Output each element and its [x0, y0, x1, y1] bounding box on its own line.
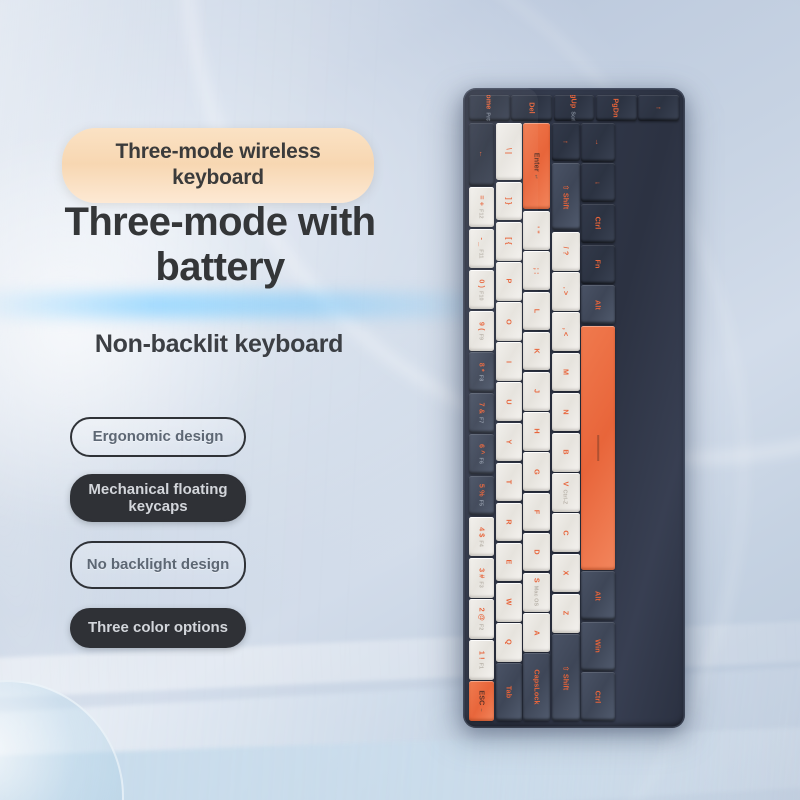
key-9[interactable]: 9 (F9 [469, 311, 494, 351]
key-legend-primary: 3 # [477, 568, 486, 578]
key-legend-primary: W [504, 599, 513, 606]
key-legend-secondary: F10 [477, 291, 483, 301]
key-legend-primary: C [561, 530, 570, 535]
key-legend: HomePrtSc [485, 95, 494, 121]
page-title: Three-mode with battery [20, 200, 420, 290]
key-legend: ESC~ [477, 691, 486, 712]
key-legend-primary: 2 @ [477, 607, 486, 620]
key-legend: R [504, 519, 513, 524]
key-tab[interactable]: Tab [496, 663, 522, 721]
feature-pill-label: No backlight design [87, 556, 230, 573]
key-legend-secondary: F4 [477, 540, 483, 547]
subheading-non-backlit: Non-backlit keyboard [24, 330, 414, 359]
key-legend-primary: ] } [504, 197, 513, 205]
key-legend: ← [477, 151, 486, 158]
key-c[interactable]: C [552, 513, 580, 552]
key-fn[interactable]: Fn [581, 245, 615, 284]
key-legend-primary: ⇧ Shift [561, 665, 570, 690]
key-3[interactable]: 3 #F3 [469, 558, 494, 598]
key-key[interactable]: [ { [496, 222, 522, 261]
key-legend-primary: P [504, 279, 513, 284]
key-legend: ↑ [561, 140, 570, 144]
key-legend-primary: 0 ) [477, 279, 486, 288]
key-legend-secondary: F8 [477, 375, 483, 382]
key-legend: 7 &F7 [477, 403, 486, 424]
key-legend: Z [561, 611, 570, 616]
key-legend-primary: 1 ! [477, 651, 486, 660]
key-legend: \ | [504, 148, 513, 154]
key-legend-primary: CapsLock [532, 670, 541, 705]
key-g[interactable]: G [523, 452, 550, 491]
key-legend: 0 )F10 [477, 279, 486, 300]
key-legend: X [561, 571, 570, 576]
key-legend-primary: - _ [477, 238, 486, 247]
key-legend-primary: → [594, 138, 603, 145]
key-key[interactable]: ↓ [581, 163, 615, 202]
key-8[interactable]: 8 *F8 [469, 352, 494, 392]
badge-line-1: Three-mode wireless [80, 139, 356, 165]
product-ad-canvas: HomePrtScDelPgUpScrLkPgDn↑←= +F12- _F110… [0, 0, 800, 800]
key-legend-primary: 8 * [477, 363, 486, 372]
key-legend-primary: Home [485, 95, 494, 109]
key-legend-secondary: F6 [477, 458, 483, 465]
key-legend: 6 ^F6 [477, 444, 486, 464]
key-q[interactable]: Q [496, 623, 522, 662]
key-6[interactable]: 6 ^F6 [469, 434, 494, 474]
key-legend: O [504, 319, 513, 325]
key-legend-secondary: F12 [477, 209, 483, 219]
key-legend: PgUpScrLk [569, 95, 578, 121]
key-legend: 1 !F1 [477, 651, 486, 669]
key-legend: Fn [594, 260, 603, 269]
key-legend-primary: O [504, 319, 513, 325]
key-legend-primary: , < [561, 327, 570, 336]
key-legend-primary: ← [477, 151, 486, 158]
key-space[interactable] [581, 326, 615, 570]
key-enter[interactable]: Enter↵ [523, 123, 550, 210]
key-legend-primary: Del [527, 102, 536, 114]
key-legend: CapsLock [532, 670, 541, 705]
key-l[interactable]: L [523, 292, 550, 331]
key-legend: ⇧ Shift [561, 184, 570, 209]
key-legend: ↓ [594, 181, 603, 185]
keyboard-keys-container: HomePrtScDelPgUpScrLkPgDn↑←= +F12- _F110… [469, 95, 679, 721]
key-legend-secondary: F9 [477, 333, 483, 340]
key-legend-primary: Fn [594, 260, 603, 269]
badge-three-mode-wireless: Three-mode wireless keyboard [62, 128, 374, 203]
key-key[interactable]: / ? [552, 232, 580, 271]
key-legend: Q [504, 640, 513, 646]
key-f[interactable]: F [523, 493, 550, 532]
key-key[interactable]: ↑ [638, 95, 679, 121]
key-legend-secondary: Ctrl-Z [561, 489, 567, 504]
key-esc[interactable]: ESC~ [469, 681, 494, 721]
key-home[interactable]: HomePrtSc [469, 95, 510, 121]
key-legend-primary: ↓ [594, 181, 603, 185]
key-legend: N [561, 409, 570, 414]
key-p[interactable]: P [496, 262, 522, 301]
key-key[interactable]: = +F12 [469, 187, 494, 227]
key-legend: Del [527, 102, 536, 114]
key-legend-primary: B [561, 450, 570, 455]
key-o[interactable]: O [496, 302, 522, 341]
key-legend: I [504, 361, 513, 363]
key-legend: - _F11 [477, 238, 486, 259]
key-5[interactable]: 5 %F5 [469, 476, 494, 516]
key-legend-primary: = + [477, 196, 486, 207]
key-legend: M [561, 369, 570, 375]
key-v[interactable]: VCtrl-Z [552, 473, 580, 512]
key-legend-primary: Enter [532, 153, 541, 172]
key-u[interactable]: U [496, 382, 522, 421]
feature-pill-three-color-options: Three color options [70, 608, 246, 648]
keyboard-product-image: HomePrtScDelPgUpScrLkPgDn↑←= +F12- _F110… [463, 88, 685, 728]
key-legend-primary: Alt [594, 300, 603, 310]
key-n[interactable]: N [552, 393, 580, 432]
key-legend: Alt [594, 300, 603, 310]
key-legend-primary: H [532, 429, 541, 434]
key-legend-secondary: ↵ [532, 175, 538, 180]
key-legend-primary: S [532, 578, 541, 583]
key-legend-primary: ESC [477, 691, 486, 706]
key-legend-secondary: F1 [477, 663, 483, 670]
key-legend: Ctrl [594, 690, 603, 703]
key-legend-primary: PgUp [569, 95, 578, 108]
key-legend-primary: Tab [504, 686, 513, 699]
key-legend: 4 $F4 [477, 527, 486, 547]
key-legend: Tab [504, 686, 513, 699]
key-legend: U [504, 399, 513, 404]
key-legend: / ? [561, 247, 570, 256]
key-alt[interactable]: Alt [581, 571, 615, 620]
key-key[interactable]: ← [469, 123, 494, 186]
key-legend-primary: F [532, 510, 541, 515]
key-legend: → [594, 138, 603, 145]
key-legend-primary: G [532, 469, 541, 475]
key-legend: W [504, 599, 513, 606]
key-key[interactable]: ' " [523, 211, 550, 250]
key-legend-primary: 5 % [477, 484, 486, 497]
key-legend: 3 #F3 [477, 568, 486, 588]
key-legend-primary: K [532, 348, 541, 353]
key-del[interactable]: Del [511, 95, 552, 121]
key-legend: Ctrl [594, 217, 603, 230]
feature-pill-ergonomic-design: Ergonomic design [70, 417, 246, 457]
key-legend-primary: \ | [504, 148, 513, 154]
key-legend-primary: Win [594, 639, 603, 652]
key-legend: ] } [504, 197, 513, 205]
key-b[interactable]: B [552, 433, 580, 472]
key-legend: H [532, 429, 541, 434]
key-legend-primary: Z [561, 611, 570, 616]
key-k[interactable]: K [523, 332, 550, 371]
key-legend-primary: N [561, 409, 570, 414]
key-legend: Enter↵ [532, 153, 541, 180]
key-i[interactable]: I [496, 342, 522, 381]
key-capslock[interactable]: CapsLock [523, 653, 550, 721]
key-legend: Alt [594, 591, 603, 601]
key-legend: B [561, 450, 570, 455]
badge-line-2: keyboard [80, 165, 356, 191]
key-7[interactable]: 7 &F7 [469, 393, 494, 433]
key-legend-secondary: F2 [477, 624, 483, 631]
key-legend: SMac OS [532, 578, 541, 606]
key-legend-primary: L [532, 309, 541, 314]
feature-pill-no-backlight-design: No backlight design [70, 541, 246, 589]
key-alt[interactable]: Alt [581, 285, 615, 324]
key-legend-primary: R [504, 519, 513, 524]
key-legend: ⇧ Shift [561, 665, 570, 690]
headline-line-1: Three-mode with [20, 200, 420, 245]
key-legend-secondary: PrtSc [485, 112, 491, 121]
key-win[interactable]: Win [581, 622, 615, 671]
key-legend: L [532, 309, 541, 314]
key-key[interactable]: → [581, 123, 615, 162]
key-legend-primary: E [504, 560, 513, 565]
key-legend-primary: PgDn [612, 98, 621, 117]
key-legend-primary: Ctrl [594, 217, 603, 230]
key-legend-secondary: F7 [477, 417, 483, 424]
key-legend-primary: ↑ [654, 106, 663, 110]
key-2[interactable]: 2 @F2 [469, 599, 494, 639]
key-legend-primary: Y [504, 439, 513, 444]
key-legend-secondary: F5 [477, 500, 483, 507]
key-legend-primary: ↑ [561, 140, 570, 144]
key-legend-primary: ' " [532, 227, 541, 234]
key-legend: [ { [504, 238, 513, 246]
key-legend-primary: Alt [594, 591, 603, 601]
key-shift[interactable]: ⇧ Shift [552, 634, 580, 721]
key-4[interactable]: 4 $F4 [469, 517, 494, 557]
key-legend: 9 (F9 [477, 322, 486, 340]
key-legend: 5 %F5 [477, 484, 486, 506]
key-key[interactable]: ↑ [552, 123, 580, 162]
feature-pill-label: Ergonomic design [93, 428, 224, 445]
key-legend-primary: Q [504, 640, 513, 646]
key-shift[interactable]: ⇧ Shift [552, 163, 580, 231]
key-y[interactable]: Y [496, 423, 522, 462]
key-d[interactable]: D [523, 533, 550, 572]
key-legend: = +F12 [477, 196, 486, 219]
key-legend-primary: Ctrl [594, 690, 603, 703]
key-legend: 2 @F2 [477, 607, 486, 630]
key-legend: D [532, 549, 541, 554]
key-legend-primary: M [561, 369, 570, 375]
key-legend: Win [594, 639, 603, 652]
key-0[interactable]: 0 )F10 [469, 270, 494, 310]
key-legend: P [504, 279, 513, 284]
key-legend-primary: J [532, 389, 541, 393]
key-legend-primary: 9 ( [477, 322, 486, 331]
key-ctrl[interactable]: Ctrl [581, 204, 615, 243]
key-legend: PgDn [612, 98, 621, 117]
key-legend-primary: U [504, 399, 513, 404]
feature-pill-mechanical-floating-keycaps: Mechanical floating keycaps [70, 474, 246, 522]
key-legend: ' " [532, 227, 541, 234]
key-legend-primary: [ { [504, 238, 513, 246]
key-legend: ; : [532, 267, 541, 274]
key-key[interactable]: . > [552, 272, 580, 311]
key-legend: G [532, 469, 541, 475]
key-legend-primary: 7 & [477, 403, 486, 415]
key-legend-primary: / ? [561, 247, 570, 256]
key-legend: F [532, 510, 541, 515]
key-legend-primary: ⇧ Shift [561, 184, 570, 209]
key-legend: C [561, 530, 570, 535]
key-legend-primary: I [504, 361, 513, 363]
key-e[interactable]: E [496, 543, 522, 582]
key-legend-primary: D [532, 549, 541, 554]
key-legend-secondary: ScrLk [569, 111, 575, 121]
feature-pill-label: Mechanical floating keycaps [86, 481, 230, 515]
key-key[interactable]: , < [552, 312, 580, 351]
key-legend-primary: 4 $ [477, 527, 486, 537]
key-key[interactable]: \ | [496, 123, 522, 181]
key-legend: A [532, 630, 541, 635]
key-legend: VCtrl-Z [561, 481, 570, 504]
key-legend: 8 *F8 [477, 363, 486, 382]
key-legend-primary: A [532, 630, 541, 635]
key-legend: Y [504, 439, 513, 444]
key-1[interactable]: 1 !F1 [469, 640, 494, 680]
key-legend-secondary: F3 [477, 581, 483, 588]
key-legend: . > [561, 287, 570, 296]
key-key[interactable]: ] } [496, 182, 522, 221]
key-legend-primary: V [561, 481, 570, 486]
headline-line-2: battery [20, 245, 420, 290]
key-legend-primary: X [561, 571, 570, 576]
key-legend: J [532, 389, 541, 393]
key-legend-secondary: F11 [477, 250, 483, 259]
key-r[interactable]: R [496, 503, 522, 542]
key-legend-primary: 6 ^ [477, 444, 486, 455]
key-legend: ↑ [654, 106, 663, 110]
key-w[interactable]: W [496, 583, 522, 622]
key-legend-primary: T [504, 480, 513, 485]
key-t[interactable]: T [496, 463, 522, 502]
key-key[interactable]: ; : [523, 251, 550, 290]
key-legend: , < [561, 327, 570, 336]
key-legend: T [504, 480, 513, 485]
key-legend-secondary: Mac OS [532, 586, 538, 606]
key-legend: E [504, 560, 513, 565]
key-legend-primary: . > [561, 287, 570, 296]
key-ctrl[interactable]: Ctrl [581, 672, 615, 721]
key-legend-secondary: ~ [477, 709, 483, 712]
key-key[interactable]: - _F11 [469, 229, 494, 269]
key-pgup[interactable]: PgUpScrLk [554, 95, 595, 121]
key-j[interactable]: J [523, 372, 550, 411]
feature-pill-label: Three color options [88, 619, 228, 636]
key-x[interactable]: X [552, 554, 580, 593]
key-s[interactable]: SMac OS [523, 573, 550, 612]
key-legend-primary: ; : [532, 267, 541, 274]
key-m[interactable]: M [552, 353, 580, 392]
spacebar-marker [598, 435, 600, 461]
key-a[interactable]: A [523, 613, 550, 652]
key-pgdn[interactable]: PgDn [596, 95, 637, 121]
key-legend: K [532, 348, 541, 353]
key-z[interactable]: Z [552, 594, 580, 633]
key-h[interactable]: H [523, 412, 550, 451]
